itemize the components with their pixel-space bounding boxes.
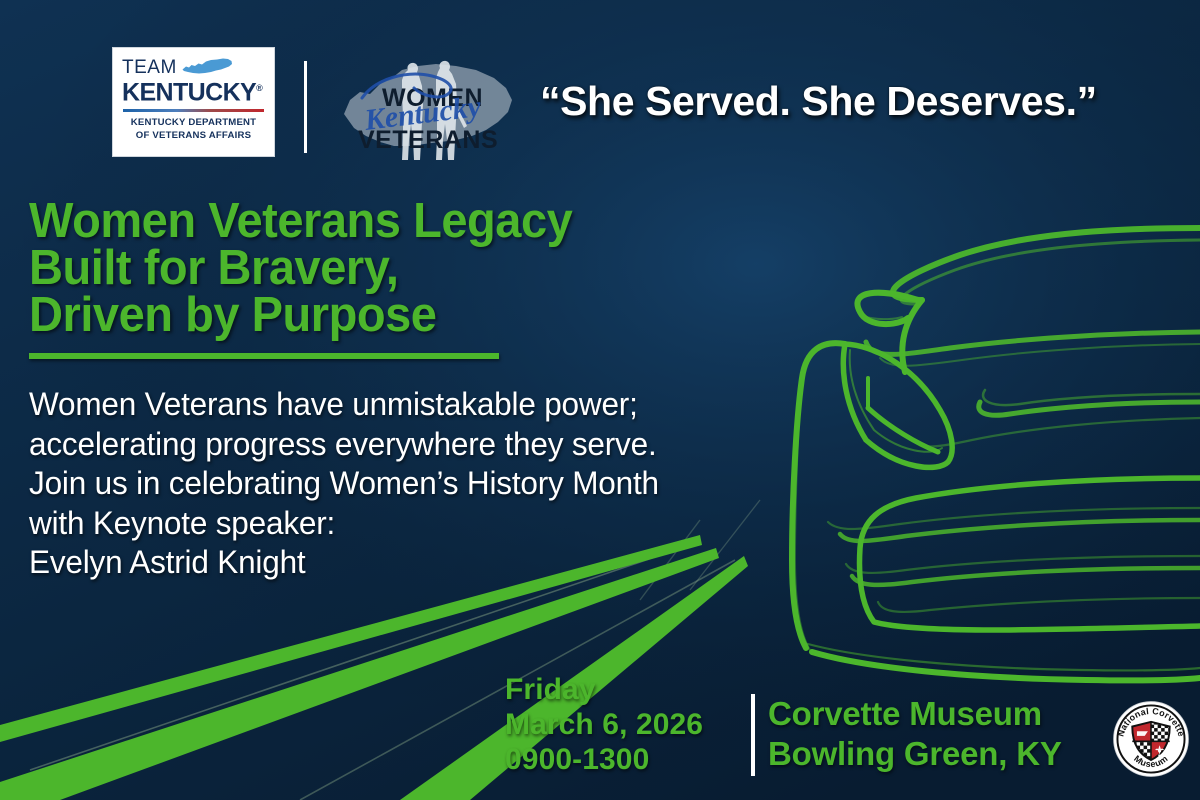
team-kentucky-rule [123, 109, 264, 112]
event-venue-block: Corvette Museum Bowling Green, KY [768, 694, 1062, 774]
event-date: March 6, 2026 [505, 707, 703, 742]
headline-underline-rule [29, 353, 499, 359]
headline-line-1: Women Veterans Legacy [29, 198, 572, 245]
body-line-2: accelerating progress everywhere they se… [29, 425, 659, 465]
event-day: Friday [505, 672, 703, 707]
tagline: “She Served. She Deserves.” [540, 78, 1097, 125]
venue-name: Corvette Museum [768, 694, 1062, 734]
tk-kentucky-text: KENTUCKY [122, 78, 256, 106]
kentucky-state-outline-icon [181, 57, 233, 77]
team-kentucky-team-word: TEAM [122, 58, 177, 77]
speaker-name: Evelyn Astrid Knight [29, 543, 659, 583]
body-line-4: with Keynote speaker: [29, 504, 659, 544]
header-logo-divider [304, 61, 307, 153]
team-kentucky-kentucky-word: KENTUCKY® [122, 76, 265, 105]
kdva-line-1: KENTUCKY DEPARTMENT [122, 117, 265, 130]
registered-mark-icon: ® [256, 83, 263, 93]
headline-line-3: Driven by Purpose [29, 292, 572, 339]
event-flyer: TEAM KENTUCKY® KENTUCKY DEPARTMENT OF VE… [0, 0, 1200, 800]
team-kentucky-logo: TEAM KENTUCKY® KENTUCKY DEPARTMENT OF VE… [112, 47, 275, 157]
kdva-line-2: OF VETERANS AFFAIRS [122, 130, 265, 143]
event-time: 0900-1300 [505, 742, 703, 777]
women-kentucky-veterans-logo: WOMEN VETERANS Kentucky [336, 42, 526, 172]
body-copy: Women Veterans have unmistakable power; … [29, 385, 659, 583]
body-line-3: Join us in celebrating Women’s History M… [29, 464, 659, 504]
event-date-block: Friday March 6, 2026 0900-1300 [505, 672, 703, 777]
team-kentucky-subtitle: KENTUCKY DEPARTMENT OF VETERANS AFFAIRS [122, 117, 265, 142]
national-corvette-museum-badge: National Corvette Museum [1112, 700, 1190, 778]
venue-city: Bowling Green, KY [768, 734, 1062, 774]
venue-divider [751, 694, 755, 776]
headline: Women Veterans Legacy Built for Bravery,… [29, 198, 572, 339]
body-line-1: Women Veterans have unmistakable power; [29, 385, 659, 425]
flyer-header: TEAM KENTUCKY® KENTUCKY DEPARTMENT OF VE… [0, 0, 1200, 180]
headline-line-2: Built for Bravery, [29, 245, 572, 292]
